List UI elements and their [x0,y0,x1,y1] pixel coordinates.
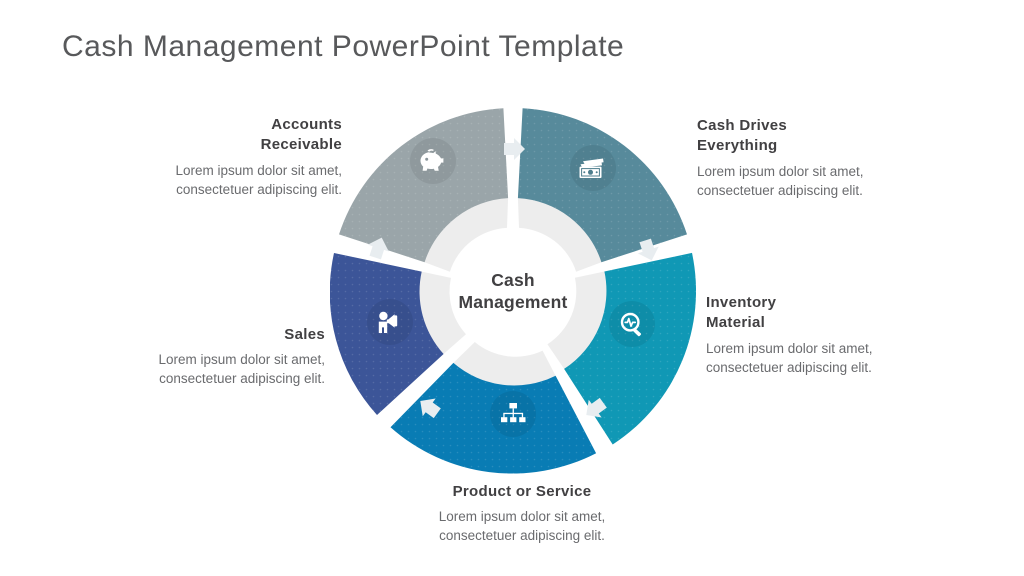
callout-body: Lorem ipsum dolor sit amet, consectetuer… [697,162,957,200]
callout-heading: Sales [95,325,325,345]
callout-body: Lorem ipsum dolor sit amet, consectetuer… [382,507,662,545]
callout-body-line1: Lorem ipsum dolor sit amet, [697,164,864,179]
megaphone-person-icon [367,299,413,345]
center-hub-line1: Cash [491,270,535,290]
callout-heading: Inventory Material [706,293,956,334]
callout-body-line2: consectetuer adipiscing elit. [439,528,605,543]
callout-body-line1: Lorem ipsum dolor sit amet, [175,163,342,178]
callout-heading-line1: Inventory [706,294,776,311]
callout-heading-line1: Sales [284,326,325,343]
callout-body-line1: Lorem ipsum dolor sit amet, [158,352,325,367]
callout-heading-line2: Material [706,314,765,331]
callout-sales[interactable]: Sales Lorem ipsum dolor sit amet, consec… [95,325,325,389]
callout-body-line2: consectetuer adipiscing elit. [697,183,863,198]
center-hub-text: Cash Management [459,269,568,314]
callout-body: Lorem ipsum dolor sit amet, consectetuer… [95,350,325,388]
center-hub: Cash Management [452,230,574,352]
magnifier-pulse-icon [609,301,655,347]
callout-product-or-service[interactable]: Product or Service Lorem ipsum dolor sit… [382,482,662,546]
callout-body-line2: consectetuer adipiscing elit. [706,360,872,375]
page-title: Cash Management PowerPoint Template [62,30,624,64]
banknote-icon [570,145,616,191]
callout-body: Lorem ipsum dolor sit amet, consectetuer… [706,339,956,377]
callout-heading-line1: Accounts [271,116,342,133]
callout-body: Lorem ipsum dolor sit amet, consectetuer… [92,161,342,199]
callout-body-line2: consectetuer adipiscing elit. [176,182,342,197]
piggy-bank-icon [410,138,456,184]
callout-inventory-material[interactable]: Inventory Material Lorem ipsum dolor sit… [706,293,956,377]
callout-heading: Product or Service [382,482,662,502]
slide-canvas: Cash Management PowerPoint Template [0,0,1024,576]
callout-body-line1: Lorem ipsum dolor sit amet, [439,509,606,524]
callout-accounts-receivable[interactable]: Accounts Receivable Lorem ipsum dolor si… [92,115,342,199]
callout-heading-line1: Cash Drives [697,117,787,134]
hierarchy-icon [490,391,536,437]
callout-heading-line2: Everything [697,137,778,154]
callout-cash-drives-everything[interactable]: Cash Drives Everything Lorem ipsum dolor… [697,116,957,200]
center-hub-line2: Management [459,292,568,312]
callout-heading: Accounts Receivable [92,115,342,156]
callout-heading-line2: Receivable [261,136,342,153]
callout-body-line1: Lorem ipsum dolor sit amet, [706,341,873,356]
callout-body-line2: consectetuer adipiscing elit. [159,371,325,386]
callout-heading-line1: Product or Service [453,483,592,500]
callout-heading: Cash Drives Everything [697,116,957,157]
